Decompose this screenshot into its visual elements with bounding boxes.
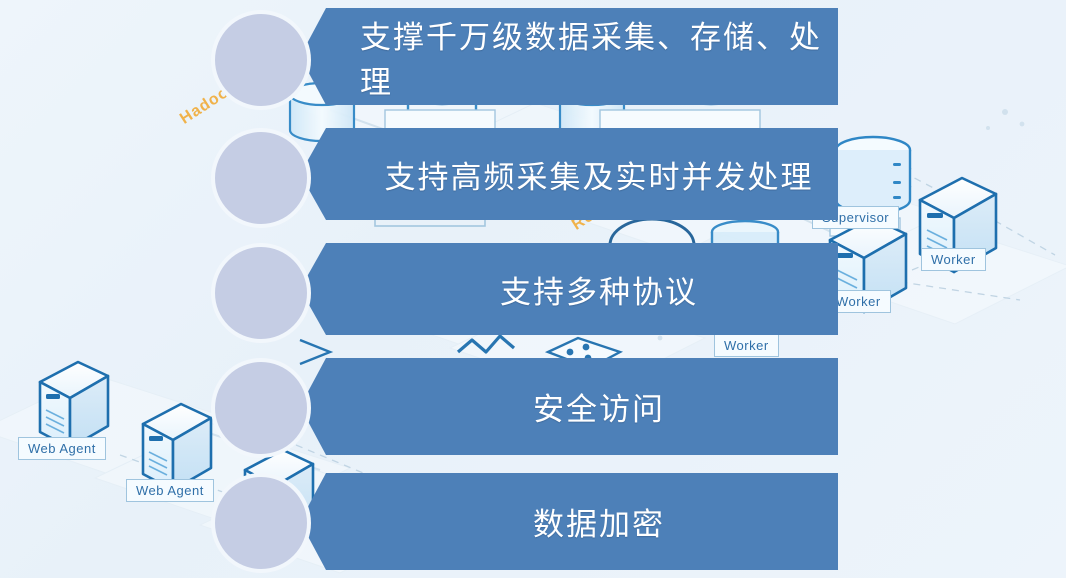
feature-banner-1[interactable]: 支撑千万级数据采集、存储、处理 <box>300 8 838 105</box>
feature-bullet-circle-5 <box>215 477 307 569</box>
feature-bullet-circle-3 <box>215 247 307 339</box>
feature-banner-3[interactable]: 支持多种协议 <box>300 243 838 335</box>
feature-banner-2[interactable]: 支持高频采集及实时并发处理 <box>300 128 838 220</box>
feature-banner-5-label: 数据加密 <box>533 499 665 544</box>
feature-banner-3-label: 支持多种协议 <box>500 267 698 312</box>
feature-bullet-circle-1 <box>215 14 307 106</box>
feature-banner-4[interactable]: 安全访问 <box>300 358 838 455</box>
feature-bullet-circle-4 <box>215 362 307 454</box>
feature-banner-5[interactable]: 数据加密 <box>300 473 838 570</box>
feature-banner-4-label: 安全访问 <box>533 384 665 429</box>
slide-canvas: Web Agent Web Agent Supervisor Worker Wo… <box>0 0 1066 578</box>
feature-banner-list: 支撑千万级数据采集、存储、处理 支持高频采集及实时并发处理 支持多种协议 安全访… <box>0 0 1066 578</box>
feature-banner-2-label: 支持高频采集及实时并发处理 <box>385 152 814 197</box>
feature-banner-1-label: 支撑千万级数据采集、存储、处理 <box>360 12 838 102</box>
feature-bullet-circle-2 <box>215 132 307 224</box>
